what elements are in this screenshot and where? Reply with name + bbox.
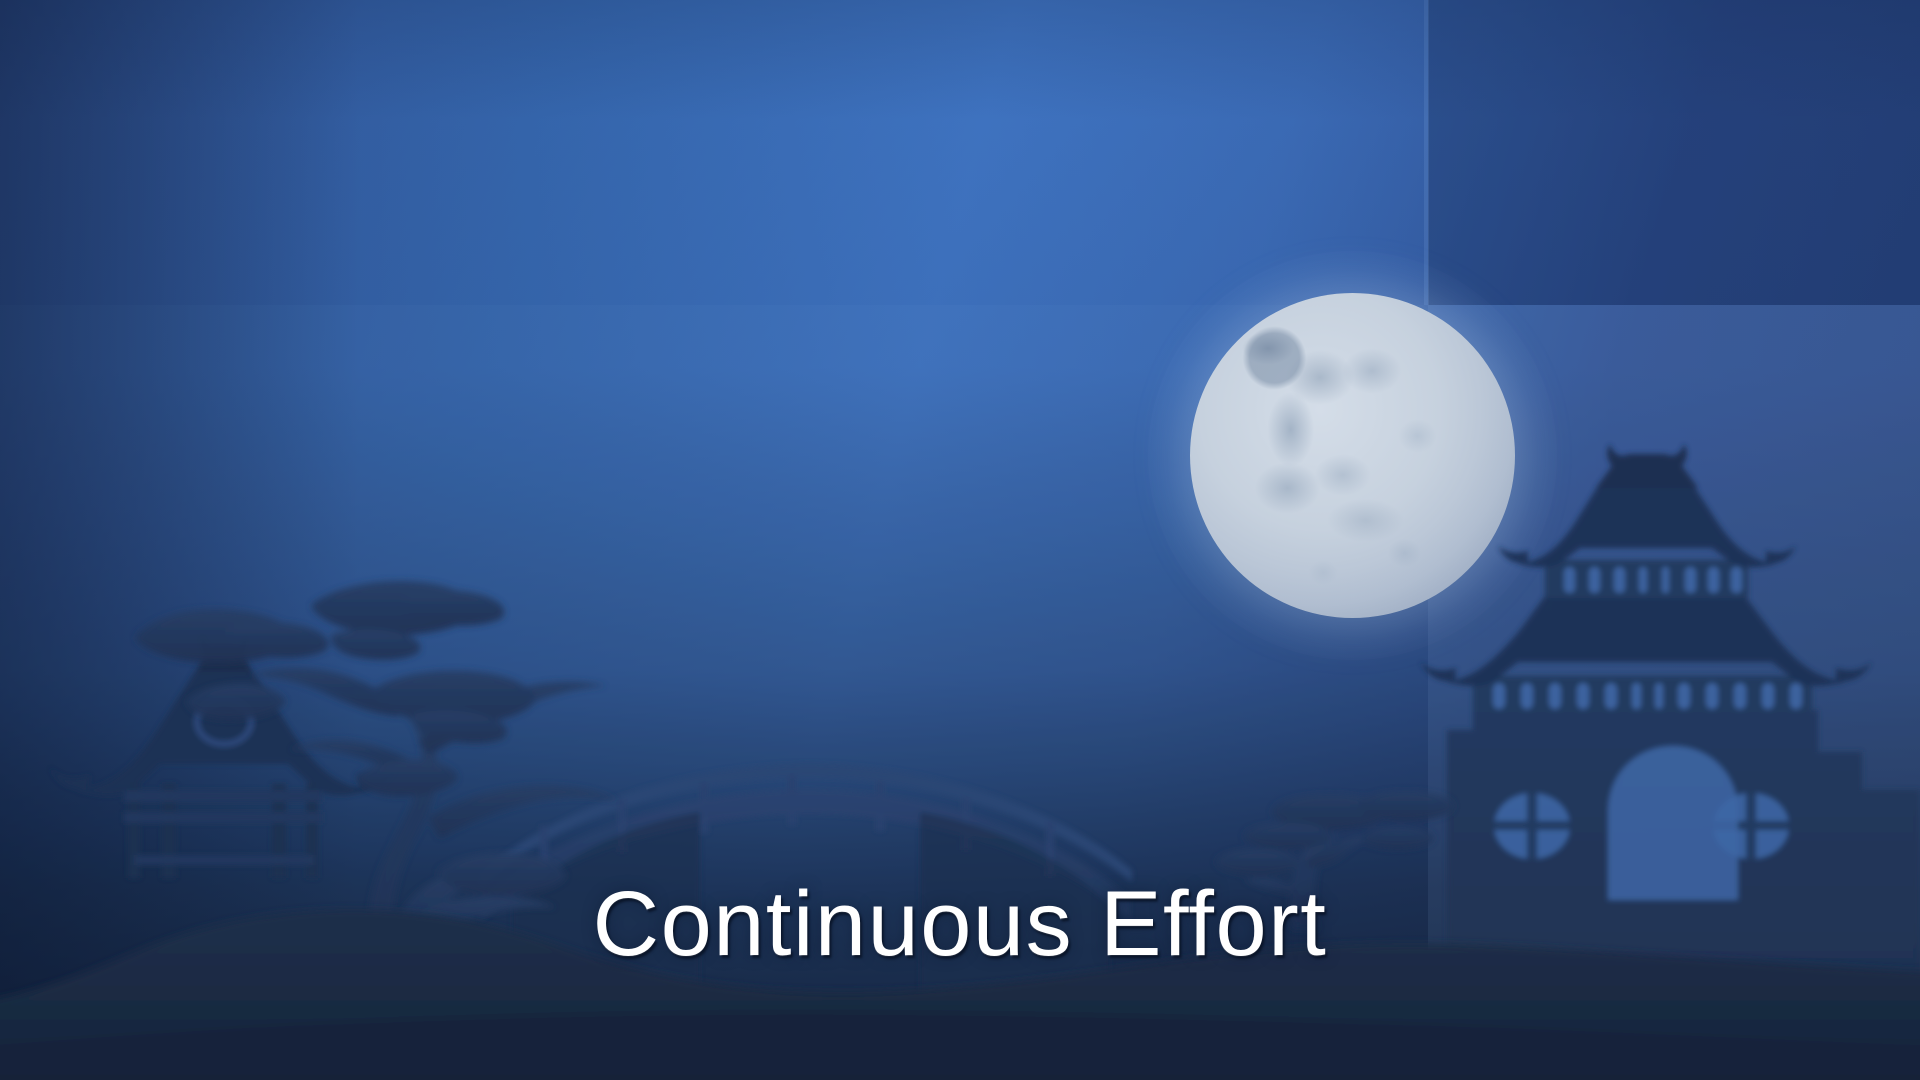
pavilion-roof-tip-left [50,768,90,789]
pavilion-group [50,635,398,878]
pine-right-pad-4 [1362,827,1434,849]
gate-arch-opening [1608,746,1738,900]
pad-5 [356,760,458,796]
gate-upper-roof [1518,486,1776,567]
gate-lower-roof [1446,596,1846,686]
slide-canvas: Continuous Effort [0,0,1920,1080]
gate-lower-roof-tip-right [1836,662,1872,681]
gate-lower-roof-tip-left [1420,662,1456,681]
pine-right-pad-2 [1244,823,1332,849]
gate-round-window-left [1494,793,1570,859]
gate-upper-roof-tip-right [1766,546,1796,563]
pine-right-pad-5 [1216,849,1300,875]
pavilion-rails [124,790,322,865]
gate-upper-roof-tip-left [1498,546,1528,563]
page-title: Continuous Effort [0,878,1920,970]
pine-right-pad-3 [1358,791,1454,821]
